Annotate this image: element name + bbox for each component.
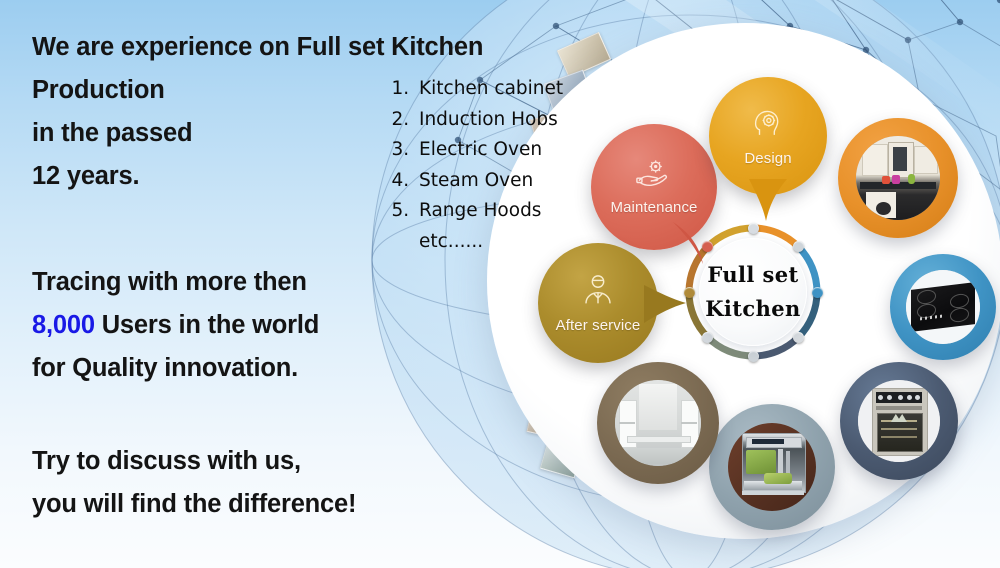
photo-electric-oven[interactable] [840,362,958,480]
bubble-after-service-tail [642,281,688,329]
service-person-icon [582,273,614,312]
headline-block-2: Tracing with more then 8,000 Users in th… [32,261,452,390]
hand-gear-icon [634,159,674,194]
photo-induction-hob-image [906,270,980,344]
hub-connector-dot [793,241,804,252]
head-gear-icon [751,106,785,145]
user-count-highlight: 8,000 [32,311,95,339]
list-item: Kitchen cabinet [415,74,563,105]
photo-range-hood[interactable] [597,362,719,484]
photo-steam-oven-image [728,423,816,511]
tracing-line-3: for Quality innovation. [32,347,452,390]
bubble-maintenance-tail [669,220,721,272]
photo-kitchen-cabinet-image [856,136,940,220]
list-item: Electric Oven [415,135,563,166]
cta-line-2: you will find the difference! [32,483,452,526]
hub-connector-dot [812,287,823,298]
bubble-maintenance-label: Maintenance [611,199,698,216]
list-item: Induction Hobs [415,105,563,136]
photo-steam-oven[interactable] [709,404,835,530]
headline-block-3: Try to discuss with us, you will find th… [32,440,452,526]
headline-line-1: We are experience on Full set Kitchen [32,26,452,69]
photo-electric-oven-image [858,380,940,462]
photo-induction-hob[interactable] [890,254,996,360]
hub-label-line-1: Full set [707,258,798,292]
bubble-design-tail [747,177,793,225]
bubble-maintenance[interactable]: Maintenance [591,124,717,250]
banner-canvas: We are experience on Full set Kitchen Pr… [0,0,1000,568]
user-count-suffix: Users in the world [95,311,319,339]
hub-connector-dot [748,351,759,362]
hub-label-line-2: Kitchen [705,292,800,326]
list-etc-label: etc...... [419,227,563,258]
bubble-design[interactable]: Design [709,77,827,195]
photo-kitchen-cabinet[interactable] [838,118,958,238]
bubble-design-label: Design [744,150,791,167]
bubble-after-service-label: After service [556,317,641,334]
cta-line-1: Try to discuss with us, [32,440,452,483]
bubble-after-service[interactable]: After service [538,243,658,363]
tracing-line-2: 8,000 Users in the world [32,304,452,347]
product-list: Kitchen cabinet Induction Hobs Electric … [389,74,563,258]
tracing-line-1: Tracing with more then [32,261,452,304]
product-list-items: Kitchen cabinet Induction Hobs Electric … [389,74,563,227]
list-item: Range Hoods [415,196,563,227]
hub-connector-dot [702,332,713,343]
hub-connector-dot [793,332,804,343]
photo-range-hood-image [615,380,701,466]
list-item: Steam Oven [415,166,563,197]
